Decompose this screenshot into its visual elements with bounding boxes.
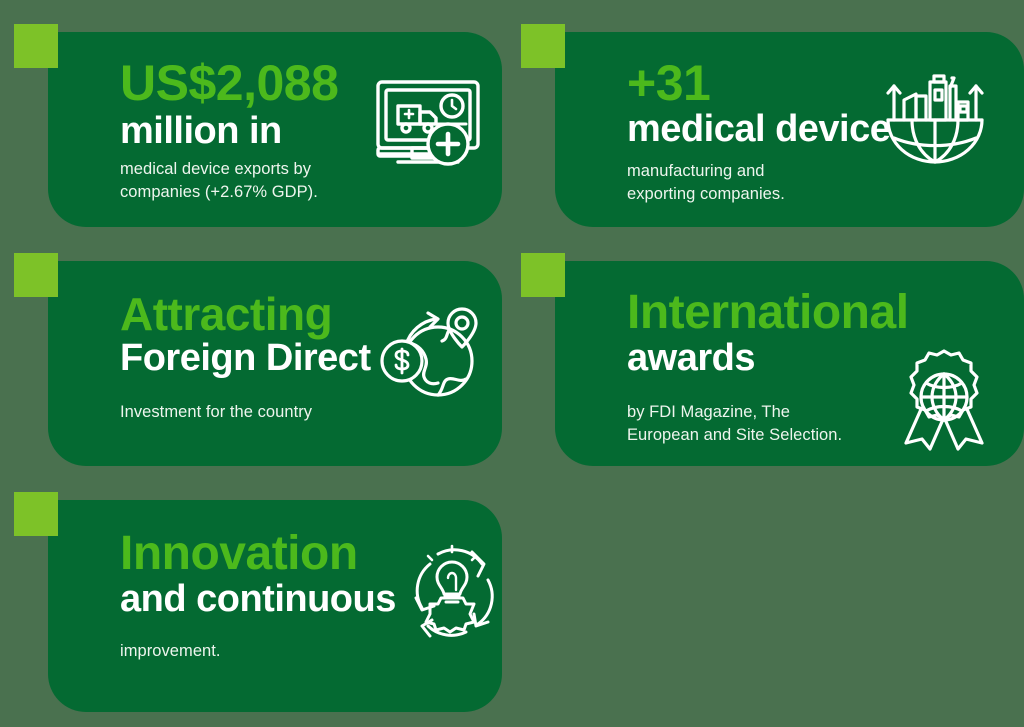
card-subtitle: medical device exports by companies (+2.… bbox=[120, 158, 318, 205]
subtitle-line: manufacturing and bbox=[627, 160, 785, 183]
award-ribbon-globe-icon bbox=[892, 345, 997, 453]
accent-square bbox=[521, 24, 565, 68]
stat-card-medical-device-exports: US$2,088 million in medical device expor… bbox=[48, 32, 502, 227]
subtitle-line: exporting companies. bbox=[627, 183, 785, 206]
subtitle-line: by FDI Magazine, The bbox=[627, 401, 842, 424]
accent-square bbox=[14, 24, 58, 68]
stat-card-foreign-direct-investment: Attracting Foreign Direct Investment for… bbox=[48, 261, 502, 466]
card-subtitle: Investment for the country bbox=[120, 401, 312, 424]
subtitle-line: Investment for the country bbox=[120, 401, 312, 424]
stat-card-medical-device-companies: +31 medical device manufacturing and exp… bbox=[555, 32, 1024, 227]
accent-square bbox=[14, 253, 58, 297]
headline-value: International bbox=[627, 289, 1014, 337]
globe-factory-growth-icon bbox=[880, 66, 990, 166]
subtitle-line: improvement. bbox=[120, 640, 221, 663]
stat-card-innovation-continuous-improvement: Innovation and continuous improvement. bbox=[48, 500, 502, 712]
globe-dollar-location-icon bbox=[376, 299, 486, 403]
card-subtitle: manufacturing and exporting companies. bbox=[627, 160, 785, 207]
monitor-ambulance-medical-icon bbox=[372, 76, 484, 172]
subtitle-line: companies (+2.67% GDP). bbox=[120, 181, 318, 204]
accent-square bbox=[521, 253, 565, 297]
stat-card-international-awards: International awards by FDI Magazine, Th… bbox=[555, 261, 1024, 466]
infographic-board: US$2,088 million in medical device expor… bbox=[0, 0, 1024, 727]
subtitle-line: European and Site Selection. bbox=[627, 424, 842, 447]
card-subtitle: by FDI Magazine, The European and Site S… bbox=[627, 401, 842, 448]
card-subtitle: improvement. bbox=[120, 640, 221, 663]
lightbulb-gear-cycle-icon bbox=[400, 542, 504, 642]
accent-square bbox=[14, 492, 58, 536]
subtitle-line: medical device exports by bbox=[120, 158, 318, 181]
